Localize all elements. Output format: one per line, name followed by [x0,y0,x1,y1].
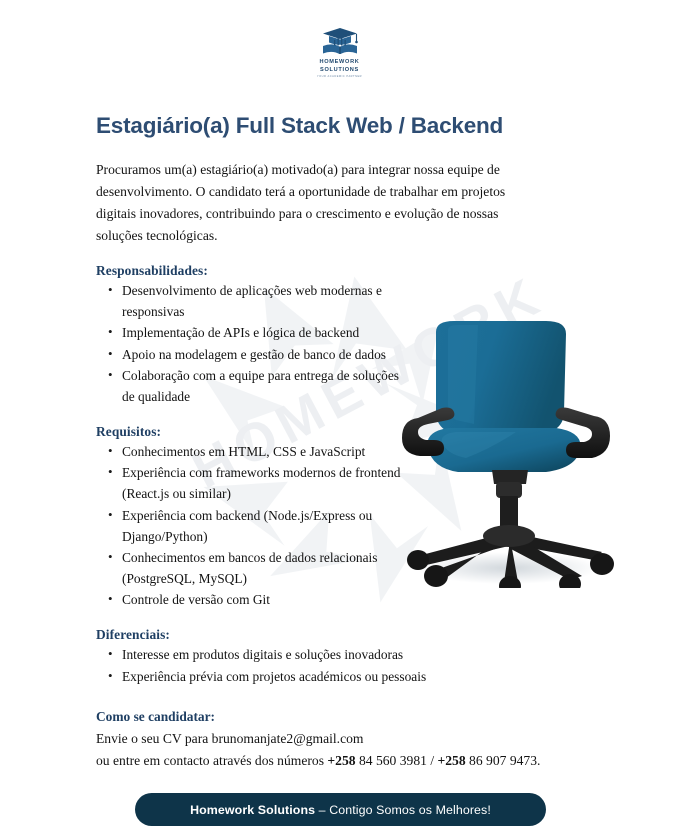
section-como-se-candidatar: Como se candidatar: Envie o seu CV para … [96,709,596,772]
footer-slogan: Contigo Somos os Melhores! [329,803,491,817]
section-heading: Requisitos: [96,424,596,440]
list-item: Desenvolvimento de aplicações web modern… [122,281,414,323]
list-item: Implementação de APIs e lógica de backen… [122,323,552,344]
job-posting-content: Estagiário(a) Full Stack Web / Backend P… [96,0,596,772]
apply-email-line: Envie o seu CV para brunomanjate2@gmail.… [96,728,596,750]
footer-brand: Homework Solutions [190,803,315,817]
company-logo: HOMEWORK SOLUTIONS YOUR ACADEMIC PARTNER [0,26,679,78]
graduation-cap-book-icon [320,26,360,56]
intro-paragraph: Procuramos um(a) estagiário(a) motivado(… [96,159,528,247]
section-heading: Responsabilidades: [96,263,596,279]
logo-name-line1: HOMEWORK [319,59,359,65]
phone1-country-code: +258 [327,753,355,768]
phone1-number[interactable]: 84 560 3981 [356,753,427,768]
list-item: Conhecimentos em HTML, CSS e JavaScript [122,442,552,463]
footer-banner: Homework Solutions – Contigo Somos os Me… [135,793,546,826]
apply-phone-line: ou entre em contacto através dos números… [96,750,596,772]
list-item: Controle de versão com Git [122,590,552,611]
diferenciais-list: Interesse em produtos digitais e soluçõe… [96,645,596,687]
section-diferenciais: Diferenciais: Interesse em produtos digi… [96,627,596,687]
logo-tagline: YOUR ACADEMIC PARTNER [317,75,362,78]
apply-heading: Como se candidatar: [96,709,596,725]
footer-text: Homework Solutions – Contigo Somos os Me… [190,803,491,817]
phone2-country-code: +258 [438,753,466,768]
list-item: Experiência com backend (Node.js/Express… [122,506,440,548]
list-item: Colaboração com a equipe para entrega de… [122,366,414,408]
phone2-number[interactable]: 86 907 9473. [466,753,541,768]
footer-separator: – [315,803,329,817]
section-requisitos: Requisitos: Conhecimentos em HTML, CSS e… [96,424,596,611]
list-item: Experiência com frameworks modernos de f… [122,463,414,505]
list-item: Apoio na modelagem e gestão de banco de … [122,345,414,366]
section-heading: Diferenciais: [96,627,596,643]
logo-name: HOMEWORK SOLUTIONS [319,59,359,74]
apply-phone-prefix: ou entre em contacto através dos números [96,753,327,768]
list-item: Experiência prévia com projetos académic… [122,667,552,688]
list-item: Conhecimentos em bancos de dados relacio… [122,548,440,590]
list-item: Interesse em produtos digitais e soluçõe… [122,645,552,666]
requisitos-list: Conhecimentos em HTML, CSS e JavaScript … [96,442,596,611]
phone-separator: / [427,753,438,768]
responsabilidades-list: Desenvolvimento de aplicações web modern… [96,281,596,408]
logo-name-line2: SOLUTIONS [320,67,359,73]
apply-email-prefix: Envie o seu CV para [96,731,212,746]
section-responsabilidades: Responsabilidades: Desenvolvimento de ap… [96,263,596,408]
apply-email-address[interactable]: brunomanjate2@gmail.com [212,731,364,746]
